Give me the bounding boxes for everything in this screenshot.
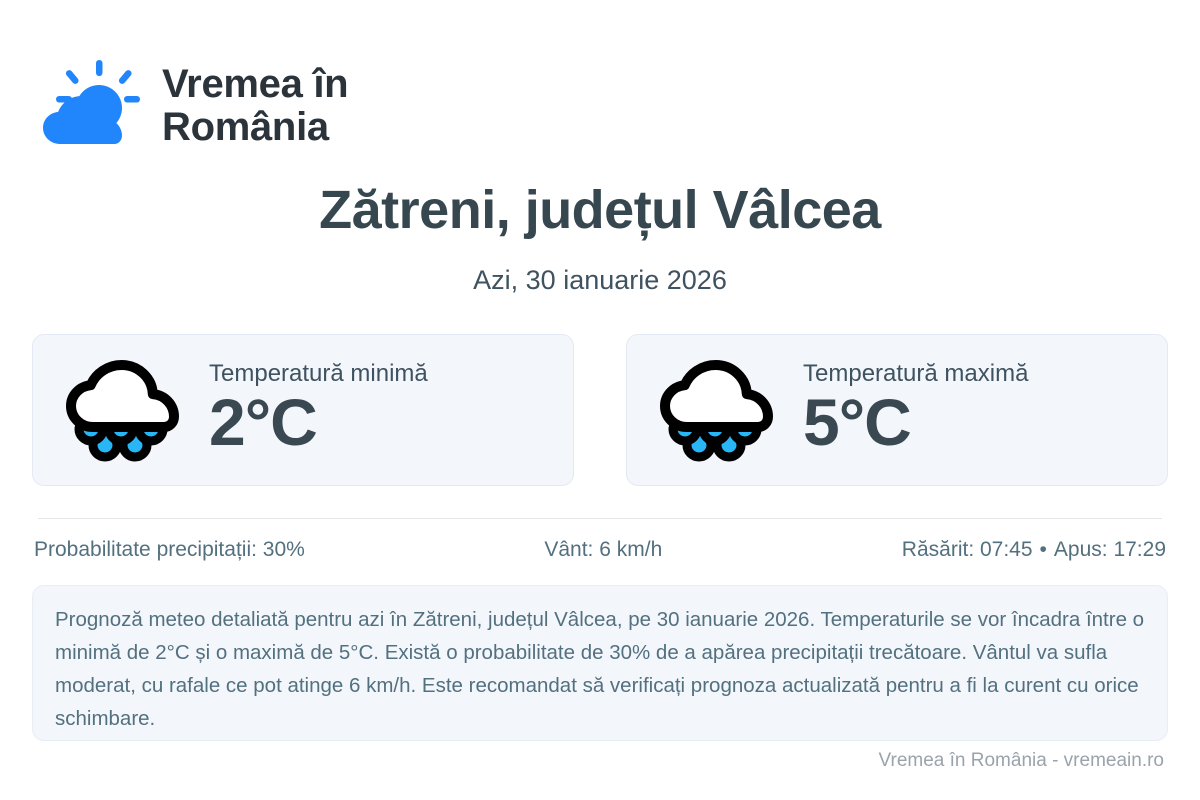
brand-name-line2: România <box>162 106 348 149</box>
sun-behind-cloud-icon <box>36 58 144 154</box>
site-header: Vremea în România <box>0 0 1200 160</box>
max-temperature-card: Temperatură maximă 5°C <box>626 334 1168 486</box>
temperature-cards: Temperatură minimă 2°C Temperatură maxim… <box>0 334 1200 486</box>
details-row: Probabilitate precipitații: 30% Vânt: 6 … <box>0 533 1200 567</box>
brand-name-line1: Vremea în <box>162 63 348 106</box>
max-temperature-label: Temperatură maximă <box>803 362 1028 386</box>
sunset-time: Apus: 17:29 <box>1054 538 1166 561</box>
wind-speed: Vânt: 6 km/h <box>305 538 902 562</box>
brand-name: Vremea în România <box>162 63 348 149</box>
rain-cloud-icon <box>655 355 777 465</box>
title-block: Zătreni, județul Vâlcea Azi, 30 ianuarie… <box>0 182 1200 296</box>
precipitation-probability: Probabilitate precipitații: 30% <box>34 538 305 562</box>
rain-cloud-icon <box>61 355 183 465</box>
min-temperature-card: Temperatură minimă 2°C <box>32 334 574 486</box>
max-temperature-value: 5°C <box>803 388 1028 457</box>
sunrise-time: Răsărit: 07:45 <box>902 538 1033 561</box>
sunrise-sunset: Răsărit: 07:45•Apus: 17:29 <box>902 538 1166 562</box>
footer-attribution: Vremea în România - vremeain.ro <box>879 750 1164 772</box>
bullet-separator-icon: • <box>1033 538 1054 561</box>
page-title: Zătreni, județul Vâlcea <box>0 182 1200 239</box>
min-temperature-label: Temperatură minimă <box>209 362 428 386</box>
page-subtitle: Azi, 30 ianuarie 2026 <box>0 265 1200 296</box>
max-temperature-body: Temperatură maximă 5°C <box>803 362 1028 457</box>
min-temperature-body: Temperatură minimă 2°C <box>209 362 428 457</box>
min-temperature-value: 2°C <box>209 388 428 457</box>
forecast-description: Prognoză meteo detaliată pentru azi în Z… <box>32 585 1168 741</box>
details-divider <box>38 518 1162 519</box>
